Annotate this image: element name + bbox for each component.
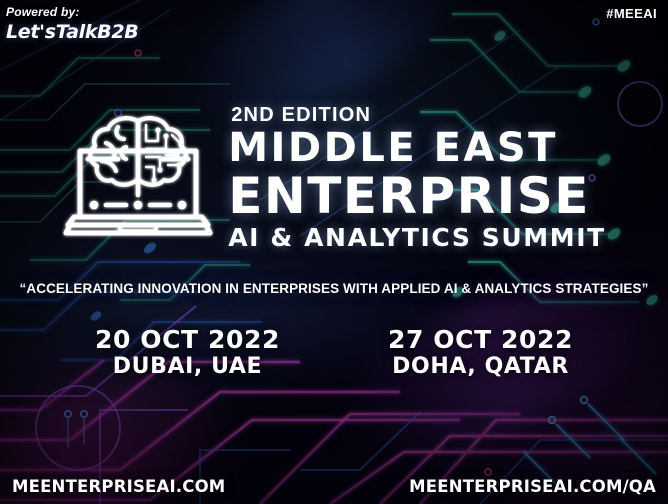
event-date: 20 OCT 2022 — [95, 325, 280, 354]
website-url-dubai[interactable]: MEENTERPRISEAI.COM — [12, 477, 225, 496]
powered-by-label: Powered by: — [6, 4, 138, 20]
laptop-brain-ai-icon — [62, 113, 214, 247]
edition-label: 2ND EDITION — [231, 104, 606, 126]
event-poster: Powered by: Let'sTalkB2B #MEEAI — [0, 0, 668, 504]
event-date: 27 OCT 2022 — [388, 325, 573, 354]
title-block: 2ND EDITION MIDDLE EAST ENTERPRISE AI & … — [228, 104, 606, 252]
event-city: DUBAI, UAE — [95, 354, 280, 380]
lets-talk-b2b-logo: Let'sTalkB2B — [6, 21, 138, 43]
title-line-summit: AI & ANALYTICS SUMMIT — [228, 224, 606, 252]
footer-urls: MEENTERPRISEAI.COM MEENTERPRISEAI.COM/QA — [0, 477, 668, 496]
event-dubai: 20 OCT 2022 DUBAI, UAE — [95, 325, 280, 380]
title-line-middle-east: MIDDLE EAST — [228, 126, 606, 170]
tagline-text: “ACCELERATING INNOVATION IN ENTERPRISES … — [0, 281, 668, 296]
title-line-enterprise: ENTERPRISE — [228, 170, 606, 222]
website-url-qatar[interactable]: MEENTERPRISEAI.COM/QA — [409, 477, 656, 496]
hashtag-label: #MEEAI — [606, 6, 657, 21]
powered-by-block: Powered by: Let'sTalkB2B — [6, 4, 138, 43]
event-dates: 20 OCT 2022 DUBAI, UAE 27 OCT 2022 DOHA,… — [0, 325, 668, 380]
hero-block: 2ND EDITION MIDDLE EAST ENTERPRISE AI & … — [0, 104, 668, 252]
event-city: DOHA, QATAR — [388, 354, 573, 380]
event-doha: 27 OCT 2022 DOHA, QATAR — [388, 325, 573, 380]
